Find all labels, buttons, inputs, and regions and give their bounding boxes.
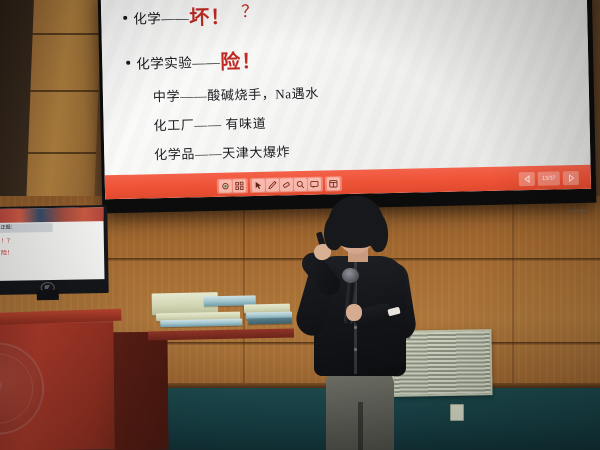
university-seal-emblem <box>0 342 45 435</box>
bullet-1-lead: 化学—— <box>133 6 189 27</box>
monitor-stand <box>37 290 59 300</box>
shirt-button <box>354 348 357 351</box>
eraser-icon[interactable] <box>280 178 293 191</box>
book-stacks <box>152 287 295 336</box>
presenter-person <box>296 196 432 450</box>
projection-screen-surface: 化学—— 坏！ ？ 化学实验—— 险！ 中学——酸碱烧手，Na遇水 化工厂—— … <box>101 0 591 199</box>
slide-bullet-2: 化学实验—— 险！ <box>126 36 583 75</box>
monitor-screen: 正题： ！？ 险！ <box>0 207 105 281</box>
cursor-arrow-icon[interactable] <box>252 179 265 192</box>
podium-side-panel <box>109 332 168 450</box>
slide-subline-3: 化学品——天津大爆炸 <box>154 135 584 163</box>
book-stack-item <box>160 319 242 328</box>
bullet-2-emphasis: 险！ <box>220 45 263 75</box>
bullet-1-trailing: ？ <box>241 0 259 22</box>
slide-navigation: 13/37 <box>519 171 579 186</box>
wall-power-outlet <box>450 404 464 421</box>
slide-subline-1: 中学——酸碱烧手，Na遇水 <box>153 77 583 105</box>
presenter-leg-seam <box>358 402 363 450</box>
pen-icon[interactable] <box>266 179 279 192</box>
book-stack-item <box>248 318 292 325</box>
lectern-podium <box>0 319 115 450</box>
slide-content: 化学—— 坏！ ？ 化学实验—— 险！ 中学——酸碱烧手，Na遇水 化工厂—— … <box>111 0 585 193</box>
bullet-1-emphasis: 坏！ <box>189 1 232 31</box>
bullet-dot-icon <box>126 61 130 65</box>
tool-group-annotate <box>250 177 323 194</box>
dell-monitor: 正题： ！？ 险！ <box>0 205 109 295</box>
monitor-slide-line-2: 险！ <box>1 248 13 257</box>
lecture-hall-photo: 化学—— 坏！ ？ 化学实验—— 险！ 中学——酸碱烧手，Na遇水 化工厂—— … <box>0 0 600 450</box>
presenter-right-hand <box>346 304 362 321</box>
shirt-button <box>354 326 357 329</box>
slide-page-counter: 13/37 <box>538 171 560 185</box>
prev-slide-button[interactable] <box>519 172 535 186</box>
monitor-image-strip <box>0 207 104 223</box>
upper-left-wood-panel <box>26 0 102 205</box>
screen-icon[interactable] <box>308 178 321 191</box>
slide-subline-2: 化工厂—— 有味道 <box>153 106 583 134</box>
tool-group-left <box>217 178 248 194</box>
monitor-slide-line-1: ！？ <box>1 236 13 245</box>
slide-grid-icon[interactable] <box>233 179 246 192</box>
bullet-2-lead: 化学实验—— <box>136 51 220 73</box>
screen-brand-label: HUAWEI <box>570 208 588 213</box>
monitor-slide-title: 正题： <box>0 223 53 233</box>
presenter-hair <box>328 196 384 248</box>
magnifier-icon[interactable] <box>294 178 307 191</box>
presenter-view-icon[interactable] <box>327 177 340 190</box>
laser-pointer-icon[interactable] <box>219 180 232 193</box>
projection-screen: 化学—— 坏！ ？ 化学实验—— 险！ 中学——酸碱烧手，Na遇水 化工厂—— … <box>98 0 597 213</box>
presenter-tool-cluster <box>217 176 342 194</box>
tool-group-presenter-view <box>325 176 342 191</box>
next-slide-button[interactable] <box>563 171 579 185</box>
bullet-dot-icon <box>123 16 127 20</box>
slide-bullet-1: 化学—— 坏！ ？ <box>123 0 582 30</box>
